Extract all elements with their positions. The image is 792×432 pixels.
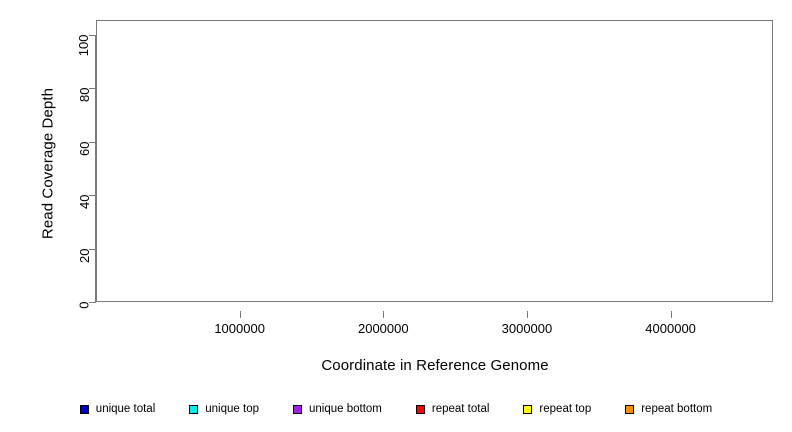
y-axis-tick-label: 0 xyxy=(77,302,92,309)
x-axis: 1000000200000030000004000000 xyxy=(96,302,786,358)
legend-item: repeat bottom xyxy=(625,403,712,415)
legend-label: unique bottom xyxy=(309,403,382,415)
y-axis: 020406080100 xyxy=(0,0,96,330)
y-axis-tick-label: 60 xyxy=(77,141,92,155)
y-axis-tick-label: 80 xyxy=(77,88,92,102)
x-axis-tick-label: 2000000 xyxy=(358,321,409,336)
legend-swatch-icon xyxy=(523,405,532,414)
x-axis-tick-label: 3000000 xyxy=(502,321,553,336)
legend-swatch-icon xyxy=(625,405,634,414)
legend-item: unique bottom xyxy=(293,403,382,415)
legend-swatch-icon xyxy=(293,405,302,414)
x-axis-tick xyxy=(527,311,528,318)
legend-swatch-icon xyxy=(80,405,89,414)
legend-swatch-icon xyxy=(189,405,198,414)
x-axis-tick xyxy=(671,311,672,318)
legend-item: unique top xyxy=(189,403,259,415)
x-axis-tick-label: 4000000 xyxy=(645,321,696,336)
coverage-plot-figure: Read Coverage Depth 020406080100 1000000… xyxy=(0,0,792,432)
legend: unique totalunique topunique bottomrepea… xyxy=(0,398,792,420)
legend-item: repeat top xyxy=(523,403,591,415)
legend-item: repeat total xyxy=(416,403,490,415)
legend-swatch-icon xyxy=(416,405,425,414)
y-axis-tick-label: 100 xyxy=(77,35,92,57)
y-axis-tick-label: 40 xyxy=(77,195,92,209)
x-axis-title: Coordinate in Reference Genome xyxy=(96,357,774,374)
legend-item: unique total xyxy=(80,403,155,415)
x-axis-tick xyxy=(383,311,384,318)
legend-label: repeat bottom xyxy=(641,403,712,415)
y-axis-tick-label: 20 xyxy=(77,248,92,262)
legend-label: repeat total xyxy=(432,403,490,415)
legend-label: unique top xyxy=(205,403,259,415)
legend-label: repeat top xyxy=(539,403,591,415)
plot-frame xyxy=(96,20,773,302)
x-axis-tick xyxy=(240,311,241,318)
legend-label: unique total xyxy=(96,403,155,415)
x-axis-tick-label: 1000000 xyxy=(214,321,265,336)
